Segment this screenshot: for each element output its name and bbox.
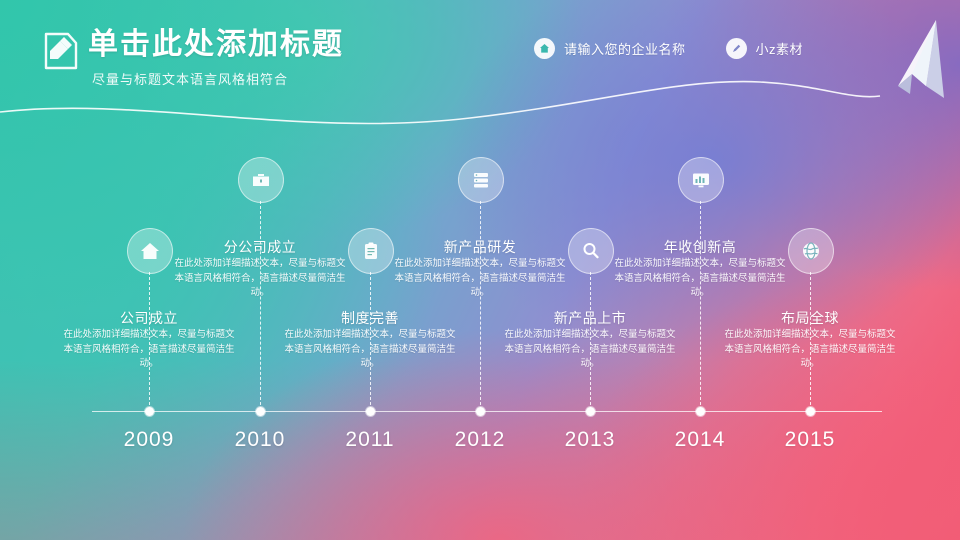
slide: 单击此处添加标题 尽量与标题文本语言风格相符合 请输入您的企业名称 小z素材 (0, 0, 960, 540)
brand-label: 小z素材 (756, 39, 804, 58)
node-title: 公司成立 (54, 308, 244, 328)
home-badge-icon (534, 38, 555, 59)
pen-badge-icon (726, 38, 747, 59)
node-icon-circle (678, 157, 724, 203)
node-dot (696, 407, 705, 416)
search-icon (580, 240, 602, 262)
node-desc: 在此处添加详细描述文本，尽量与标题文本语言风格相符合，语言描述尽量简洁生动。 (174, 257, 346, 301)
page-title: 单击此处添加标题 (88, 28, 344, 63)
node-dot (806, 407, 815, 416)
node-desc: 在此处添加详细描述文本，尽量与标题文本语言风格相符合，语言描述尽量简洁生动。 (504, 328, 676, 372)
briefcase-icon (250, 169, 272, 191)
chart-monitor-icon (690, 169, 712, 191)
node-year: 2010 (215, 428, 305, 452)
home-icon (139, 240, 161, 262)
node-stem (260, 201, 261, 410)
globe-icon (800, 240, 822, 262)
node-desc: 在此处添加详细描述文本，尽量与标题文本语言风格相符合，语言描述尽量简洁生动。 (63, 328, 235, 372)
node-desc: 在此处添加详细描述文本，尽量与标题文本语言风格相符合，语言描述尽量简洁生动。 (394, 257, 566, 301)
node-dot (476, 407, 485, 416)
node-year: 2015 (765, 428, 855, 452)
node-title: 制度完善 (275, 308, 465, 328)
node-year: 2013 (545, 428, 635, 452)
node-dot (145, 407, 154, 416)
node-year: 2014 (655, 428, 745, 452)
header-right-group: 请输入您的企业名称 小z素材 (534, 38, 803, 59)
node-desc: 在此处添加详细描述文本，尽量与标题文本语言风格相符合，语言描述尽量简洁生动。 (284, 328, 456, 372)
company-name-item[interactable]: 请输入您的企业名称 (534, 38, 686, 59)
node-title: 布局全球 (715, 308, 905, 328)
node-title: 新产品研发 (385, 237, 575, 257)
node-title: 分公司成立 (165, 237, 355, 257)
clipboard-icon (360, 240, 382, 262)
node-title: 年收创新高 (605, 237, 795, 257)
server-icon (470, 169, 492, 191)
node-icon-circle (788, 228, 834, 274)
title-group: 单击此处添加标题 尽量与标题文本语言风格相符合 (88, 28, 344, 88)
node-stem (700, 201, 701, 410)
node-year: 2012 (435, 428, 525, 452)
node-desc: 在此处添加详细描述文本，尽量与标题文本语言风格相符合，语言描述尽量简洁生动。 (614, 257, 786, 301)
node-icon-circle (458, 157, 504, 203)
node-title: 新产品上市 (495, 308, 685, 328)
node-stem (480, 201, 481, 410)
node-year: 2009 (104, 428, 194, 452)
node-icon-circle (238, 157, 284, 203)
node-dot (586, 407, 595, 416)
node-dot (256, 407, 265, 416)
page-subtitle: 尽量与标题文本语言风格相符合 (92, 69, 344, 88)
node-dot (366, 407, 375, 416)
brand-item[interactable]: 小z素材 (726, 38, 804, 59)
node-year: 2011 (325, 428, 415, 452)
company-name-label: 请输入您的企业名称 (564, 39, 686, 58)
node-desc: 在此处添加详细描述文本，尽量与标题文本语言风格相符合，语言描述尽量简洁生动。 (724, 328, 896, 372)
paper-plane-icon (840, 14, 950, 110)
slide-header: 单击此处添加标题 尽量与标题文本语言风格相符合 请输入您的企业名称 小z素材 (0, 0, 960, 120)
pencil-icon (38, 28, 82, 74)
